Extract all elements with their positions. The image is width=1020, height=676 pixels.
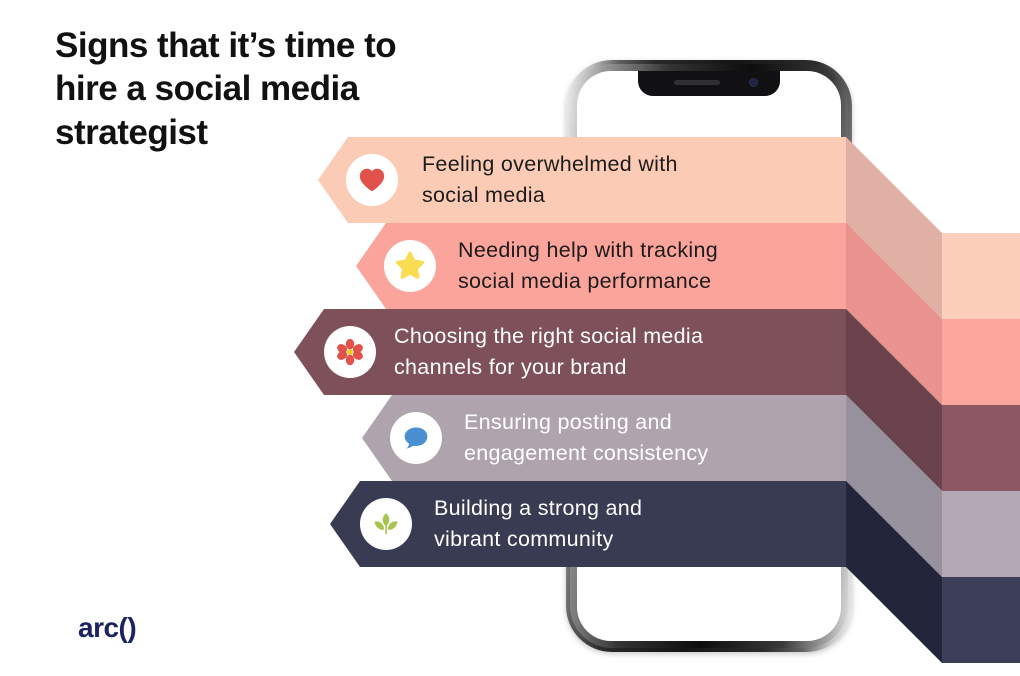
star-icon [384, 240, 436, 292]
flower-icon [324, 326, 376, 378]
banner-label: Ensuring posting and engagement consiste… [464, 407, 708, 469]
banner-label: Choosing the right social media channels… [394, 321, 703, 383]
banner-item-2[interactable]: Needing help with tracking social media … [356, 223, 846, 309]
banner-list: Feeling overwhelmed with social media Ne… [0, 0, 1020, 676]
banner-label: Needing help with tracking social media … [458, 235, 718, 297]
banner-item-1[interactable]: Feeling overwhelmed with social media [318, 137, 846, 223]
banner-label: Feeling overwhelmed with social media [422, 149, 678, 211]
banner-item-4[interactable]: Ensuring posting and engagement consiste… [362, 395, 846, 481]
banner-item-3[interactable]: Choosing the right social media channels… [294, 309, 846, 395]
brand-logo: arc() [78, 612, 136, 644]
leaf-plant-icon [360, 498, 412, 550]
speech-bubble-icon [390, 412, 442, 464]
banner-label: Building a strong and vibrant community [434, 493, 642, 555]
heart-icon [346, 154, 398, 206]
infographic-canvas: Signs that it’s time to hire a social me… [0, 0, 1020, 676]
banner-item-5[interactable]: Building a strong and vibrant community [330, 481, 846, 567]
